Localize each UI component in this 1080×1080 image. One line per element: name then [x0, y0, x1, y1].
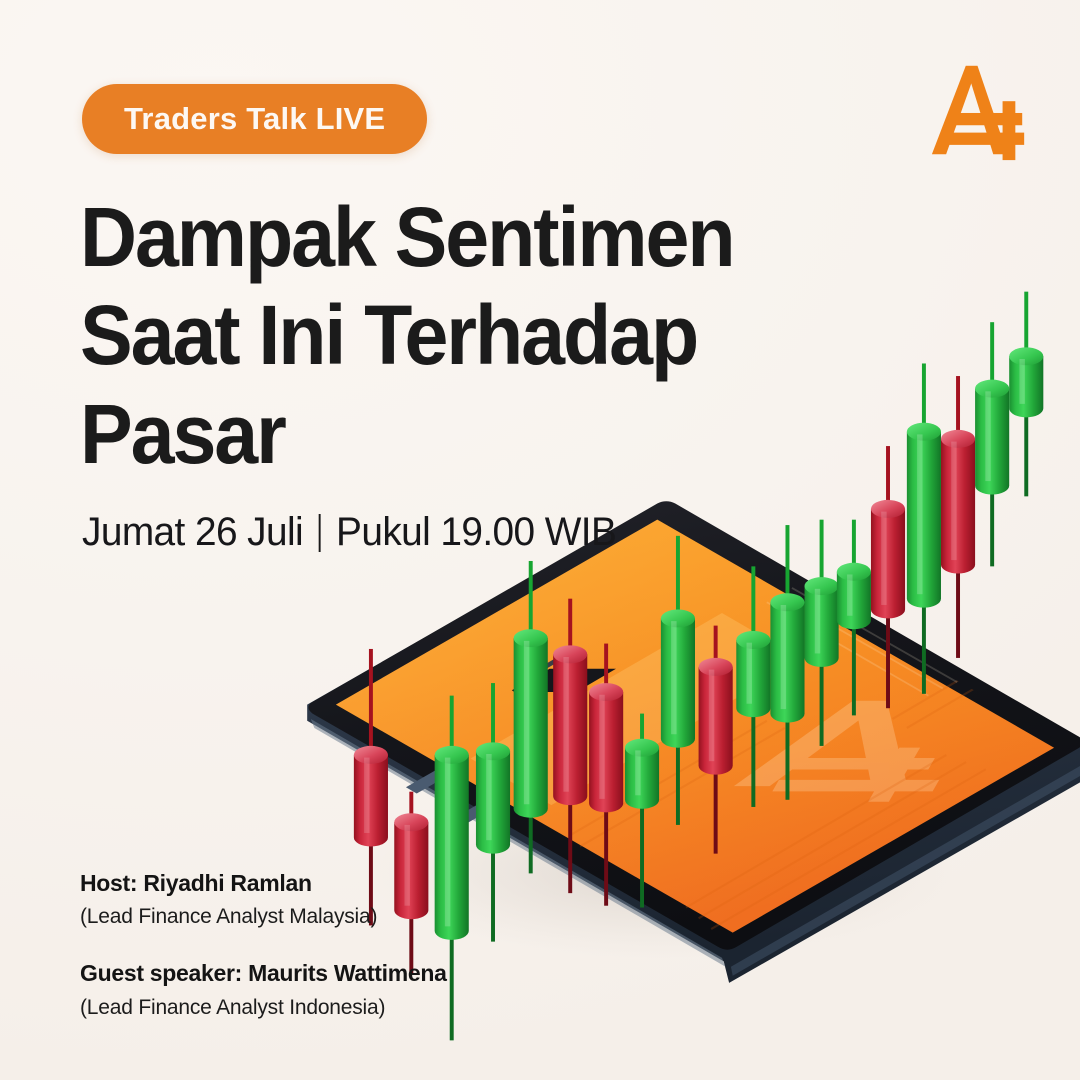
- guest-role: (Lead Finance Analyst Indonesia): [80, 993, 550, 1023]
- candle-18-bull: [975, 322, 1009, 566]
- candle-10-bear: [699, 626, 733, 854]
- candle-9-bull: [661, 536, 695, 825]
- event-time: Pukul 19.00 WIB: [336, 510, 616, 555]
- candle-15-bear: [871, 446, 905, 708]
- poster-canvas: Traders Talk LIVE Dampak Sentimen Saat I…: [0, 0, 1080, 1080]
- schedule-separator: [319, 514, 321, 552]
- page-title: Dampak Sentimen Saat Ini Terhadap Pasar: [80, 188, 794, 483]
- speaker-credits: Host: Riyadhi Ramlan (Lead Finance Analy…: [80, 868, 550, 1023]
- candle-6-bear: [553, 599, 587, 893]
- candle-5-bull: [514, 561, 548, 873]
- candle-16-bull: [907, 363, 941, 693]
- headline-line-3: Pasar: [80, 385, 794, 483]
- guest-name: Guest speaker: Maurits Wattimena: [80, 958, 550, 989]
- host-role: (Lead Finance Analyst Malaysia): [80, 902, 550, 932]
- headline-line-1: Dampak Sentimen: [80, 188, 794, 286]
- headline-line-2: Saat Ini Terhadap: [80, 286, 794, 384]
- live-badge-label: Traders Talk LIVE: [124, 101, 385, 137]
- candle-19-bull: [1009, 292, 1043, 497]
- event-schedule: Jumat 26 Juli Pukul 19.00 WIB: [82, 510, 616, 555]
- candle-11-bull: [736, 566, 770, 807]
- ascent-a-logo: [926, 58, 1034, 162]
- candle-12-bull: [770, 525, 804, 800]
- live-badge[interactable]: Traders Talk LIVE: [82, 84, 427, 154]
- candle-8-bull: [625, 714, 659, 908]
- candle-14-bull: [837, 520, 871, 716]
- guest-credit: Guest speaker: Maurits Wattimena (Lead F…: [80, 958, 550, 1022]
- event-date: Jumat 26 Juli: [82, 510, 303, 555]
- candle-17-bear: [941, 376, 975, 658]
- candle-13-bull: [805, 520, 839, 746]
- host-name: Host: Riyadhi Ramlan: [80, 868, 550, 899]
- host-credit: Host: Riyadhi Ramlan (Lead Finance Analy…: [80, 868, 550, 932]
- candle-7-bear: [589, 644, 623, 906]
